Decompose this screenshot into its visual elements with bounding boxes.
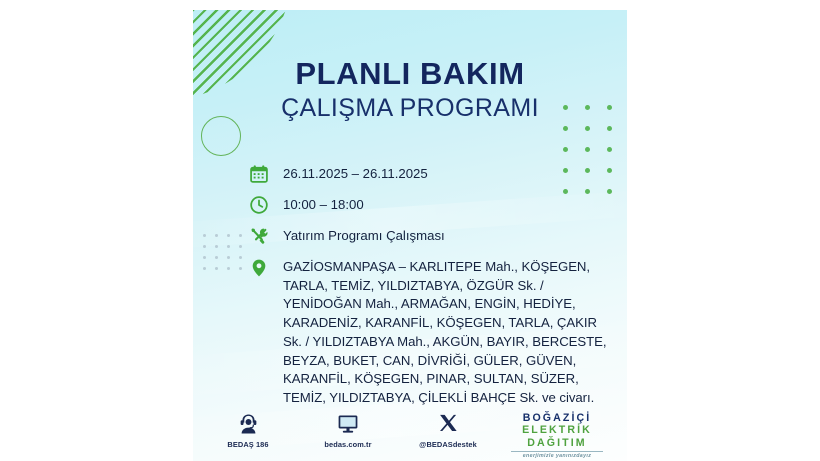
support-agent-icon <box>211 410 285 437</box>
monitor-icon <box>311 410 385 437</box>
date-range-value: 26.11.2025 – 26.11.2025 <box>283 163 428 183</box>
title-primary: PLANLI BAKIM <box>193 58 627 91</box>
info-row-date: 26.11.2025 – 26.11.2025 <box>248 163 608 185</box>
contact-website[interactable]: bedas.com.tr <box>311 410 385 449</box>
bedas-logo: BOĞAZİÇİ ELEKTRİK DAĞITIM enerjimizle ya… <box>501 412 613 459</box>
contact-phone-label: BEDAŞ 186 <box>211 440 285 449</box>
logo-line-elektrik: ELEKTRİK <box>501 424 613 436</box>
contact-phone[interactable]: BEDAŞ 186 <box>211 410 285 449</box>
contact-list: BEDAŞ 186 bedas.com.tr <box>211 410 485 449</box>
info-list: 26.11.2025 – 26.11.2025 10:00 – 18:00 <box>248 163 608 417</box>
calendar-icon <box>248 163 270 185</box>
info-row-location: GAZİOSMANPAŞA – KARLITEPE Mah., KÖŞEGEN,… <box>248 256 608 408</box>
screenshot-root: PLANLI BAKIM ÇALIŞMA PROGRAMI <box>0 0 820 461</box>
page-title: PLANLI BAKIM ÇALIŞMA PROGRAMI <box>193 58 627 122</box>
x-logo-icon <box>411 410 485 437</box>
clock-icon <box>248 194 270 216</box>
work-type-value: Yatırım Programı Çalışması <box>283 225 445 245</box>
info-row-time: 10:00 – 18:00 <box>248 194 608 216</box>
logo-divider <box>511 451 603 452</box>
tools-icon <box>248 225 270 247</box>
dot-grid-decoration-left <box>203 234 251 278</box>
logo-line-bogazici: BOĞAZİÇİ <box>501 412 613 424</box>
contact-website-label: bedas.com.tr <box>311 440 385 449</box>
logo-line-dagitim: DAĞITIM <box>501 437 613 449</box>
map-pin-icon <box>248 256 270 279</box>
logo-tagline: enerjimizle yanınızdayız <box>501 453 613 459</box>
contact-x-label: @BEDASdestek <box>411 440 485 449</box>
time-range-value: 10:00 – 18:00 <box>283 194 364 214</box>
contact-x[interactable]: @BEDASdestek <box>411 410 485 449</box>
card-footer: BEDAŞ 186 bedas.com.tr <box>193 408 627 461</box>
info-row-work-type: Yatırım Programı Çalışması <box>248 225 608 247</box>
title-secondary: ÇALIŞMA PROGRAMI <box>193 95 627 123</box>
maintenance-notice-card: PLANLI BAKIM ÇALIŞMA PROGRAMI <box>193 10 627 461</box>
location-value: GAZİOSMANPAŞA – KARLITEPE Mah., KÖŞEGEN,… <box>283 256 608 408</box>
